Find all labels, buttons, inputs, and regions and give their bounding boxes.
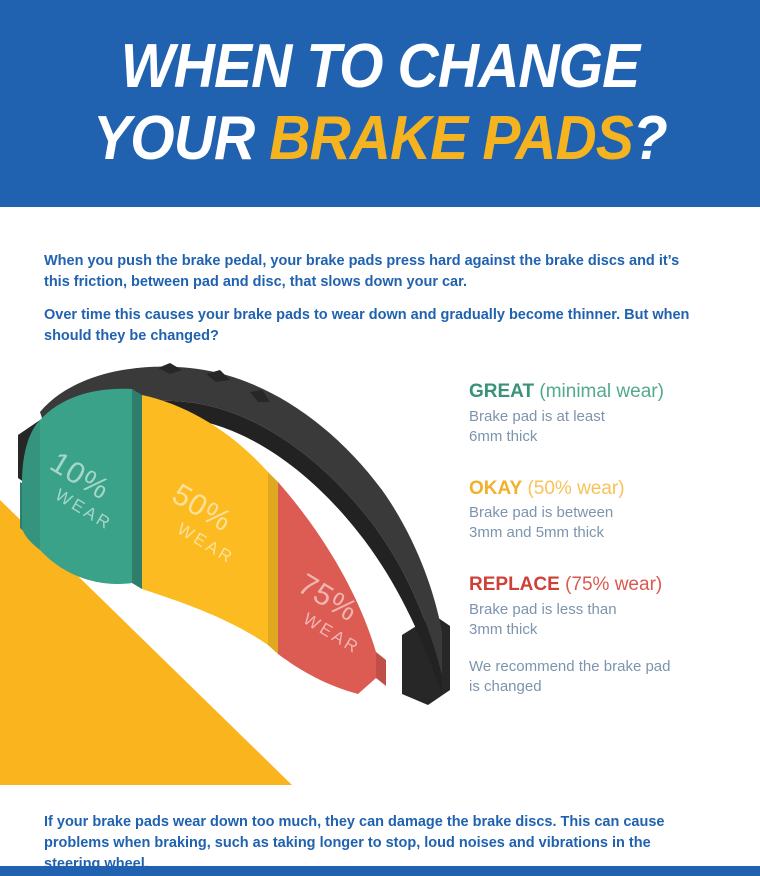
legend-keyword-okay: OKAY bbox=[469, 478, 522, 499]
legend-keyword-great: GREAT bbox=[469, 381, 534, 402]
infographic-page: WHEN TO CHANGE YOUR BRAKE PADS? When you… bbox=[0, 0, 760, 876]
page-title-question-mark: ? bbox=[633, 104, 667, 173]
legend-item-replace: REPLACE (75% wear) Brake pad is less tha… bbox=[469, 574, 744, 697]
legend-desc-replace-line-1: Brake pad is less than bbox=[469, 600, 744, 620]
intro-paragraph-1: When you push the brake pedal, your brak… bbox=[44, 251, 704, 293]
page-title-line-1: WHEN TO CHANGE bbox=[30, 36, 729, 98]
legend-qualifier-okay: (50% wear) bbox=[527, 478, 624, 499]
legend-desc-great-line-1: Brake pad is at least bbox=[469, 407, 744, 427]
page-title-line-2: YOUR BRAKE PADS? bbox=[30, 108, 729, 170]
legend-desc-replace-line-2: 3mm thick bbox=[469, 620, 744, 640]
legend-note-line-1: We recommend the brake pad bbox=[469, 657, 744, 677]
brake-pad-illustration: 10% WEAR 50% WEAR 75% WEAR bbox=[10, 360, 470, 720]
intro-paragraph-2: Over time this causes your brake pads to… bbox=[44, 305, 704, 347]
legend-note-line-2: is changed bbox=[469, 677, 744, 697]
legend-item-okay: OKAY (50% wear) Brake pad is between 3mm… bbox=[469, 478, 744, 544]
legend-desc-great-line-2: 6mm thick bbox=[469, 427, 744, 447]
legend-heading-okay: OKAY (50% wear) bbox=[469, 478, 744, 501]
wear-legend: GREAT (minimal wear) Brake pad is at lea… bbox=[469, 381, 744, 728]
legend-qualifier-replace: (75% wear) bbox=[565, 574, 662, 595]
legend-keyword-replace: REPLACE bbox=[469, 574, 560, 595]
footer-bar bbox=[0, 866, 760, 876]
legend-heading-great: GREAT (minimal wear) bbox=[469, 381, 744, 404]
page-title-plain: YOUR bbox=[93, 104, 269, 173]
header-banner: WHEN TO CHANGE YOUR BRAKE PADS? bbox=[0, 0, 760, 207]
legend-desc-okay-line-1: Brake pad is between bbox=[469, 503, 744, 523]
legend-heading-replace: REPLACE (75% wear) bbox=[469, 574, 744, 597]
page-title-accent: BRAKE PADS bbox=[269, 104, 633, 173]
legend-desc-okay-line-2: 3mm and 5mm thick bbox=[469, 523, 744, 543]
pad-segment-great: 10% WEAR bbox=[20, 389, 142, 589]
legend-item-great: GREAT (minimal wear) Brake pad is at lea… bbox=[469, 381, 744, 447]
